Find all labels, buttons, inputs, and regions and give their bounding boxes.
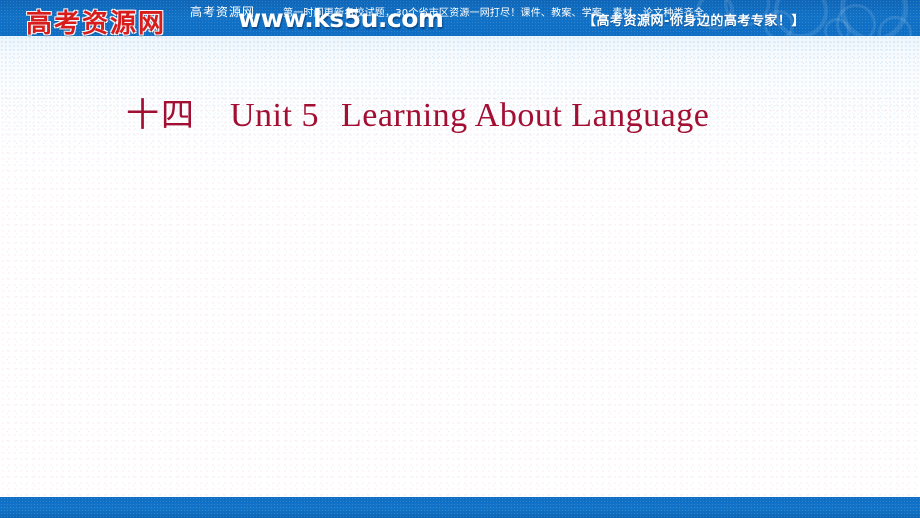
page-title: 十四Unit 5Learning About Language xyxy=(126,88,709,136)
title-section-number: 十四 xyxy=(126,95,196,134)
footer-slogan-text: 第一时间更新名校试题，30个省市区资源一网打尽！课件、教案、学案、素材、论文种类… xyxy=(283,4,714,19)
slide-background-pink-noise xyxy=(0,90,920,500)
footer-texture xyxy=(0,497,920,518)
footer-brand-text: 高考资源网 xyxy=(190,3,255,20)
title-subject: Learning About Language xyxy=(341,97,709,134)
presentation-slide: 高考资源网 www.ks5u.com 【高考资源网-你身边的高考专家！】 十四U… xyxy=(0,0,920,518)
site-logo-text: 高考资源网 xyxy=(26,3,166,40)
title-unit-label: Unit 5 xyxy=(230,97,319,134)
site-footer-banner xyxy=(0,497,920,518)
